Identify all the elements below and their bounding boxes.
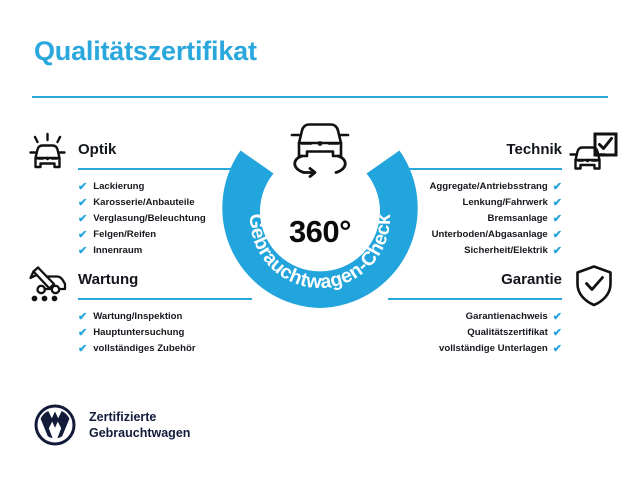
title-divider bbox=[32, 96, 608, 98]
list-item-label: Innenraum bbox=[93, 243, 142, 259]
check-icon: ✔ bbox=[553, 195, 562, 211]
list-item-label: Felgen/Reifen bbox=[93, 227, 156, 243]
check-icon: ✔ bbox=[78, 227, 87, 243]
check-icon: ✔ bbox=[553, 309, 562, 325]
check-icon: ✔ bbox=[78, 195, 87, 211]
list-item-label: Sicherheit/Elektrik bbox=[464, 243, 548, 259]
list-item-label: Verglasung/Beleuchtung bbox=[93, 211, 205, 227]
list-item: ✔ vollständiges Zubehör bbox=[78, 341, 252, 357]
car-checkbox-icon bbox=[568, 130, 618, 183]
vw-wordmark-line1: Zertifizierte bbox=[89, 409, 190, 426]
vw-footer: Zertifizierte Gebrauchtwagen bbox=[34, 404, 190, 446]
list-item-label: Bremsanlage bbox=[488, 211, 548, 227]
shield-check-icon bbox=[570, 262, 618, 315]
check-icon: ✔ bbox=[78, 325, 87, 341]
car-shine-icon bbox=[24, 130, 72, 183]
car-rotate-icon bbox=[280, 112, 360, 188]
check-icon: ✔ bbox=[553, 227, 562, 243]
list-item-label: vollständige Unterlagen bbox=[439, 341, 548, 357]
list-item-label: Qualitätszertifikat bbox=[467, 325, 548, 341]
list-item: ✔ Hauptuntersuchung bbox=[78, 325, 252, 341]
check-icon: ✔ bbox=[78, 309, 87, 325]
vw-wordmark-line2: Gebrauchtwagen bbox=[89, 425, 190, 442]
check-icon: ✔ bbox=[553, 243, 562, 259]
car-pen-service-icon bbox=[24, 262, 72, 315]
check-icon: ✔ bbox=[553, 325, 562, 341]
list-item-label: Aggregate/Antriebsstrang bbox=[429, 179, 547, 195]
check-icon: ✔ bbox=[78, 211, 87, 227]
certificate-sheet: Qualitätszertifikat Optik bbox=[0, 0, 640, 480]
list-item: Qualitätszertifikat ✔ bbox=[388, 325, 562, 341]
section-wartung-list: ✔ Wartung/Inspektion ✔ Hauptuntersuchung… bbox=[78, 309, 252, 357]
check-icon: ✔ bbox=[78, 243, 87, 259]
list-item-label: Karosserie/Anbauteile bbox=[93, 195, 194, 211]
list-item-label: Unterboden/Abgasanlage bbox=[432, 227, 548, 243]
list-item-label: Lenkung/Fahrwerk bbox=[462, 195, 547, 211]
badge-360-gebrauchtwagen-check: Gebrauchtwagen-Check 360° bbox=[222, 110, 418, 310]
check-icon: ✔ bbox=[78, 179, 87, 195]
check-icon: ✔ bbox=[78, 341, 87, 357]
vw-wordmark: Zertifizierte Gebrauchtwagen bbox=[89, 409, 190, 442]
vw-logo bbox=[34, 404, 76, 446]
list-item: vollständige Unterlagen ✔ bbox=[388, 341, 562, 357]
page-title: Qualitätszertifikat bbox=[34, 36, 257, 67]
check-icon: ✔ bbox=[553, 341, 562, 357]
list-item: Garantienachweis ✔ bbox=[388, 309, 562, 325]
check-icon: ✔ bbox=[553, 211, 562, 227]
check-icon: ✔ bbox=[553, 179, 562, 195]
list-item-label: Hauptuntersuchung bbox=[93, 325, 184, 341]
list-item-label: Lackierung bbox=[93, 179, 144, 195]
list-item: ✔ Wartung/Inspektion bbox=[78, 309, 252, 325]
list-item-label: vollständiges Zubehör bbox=[93, 341, 195, 357]
list-item-label: Garantienachweis bbox=[466, 309, 548, 325]
section-garantie-list: Garantienachweis ✔ Qualitätszertifikat ✔… bbox=[388, 309, 562, 357]
badge-360-value: 360° bbox=[222, 214, 418, 250]
list-item-label: Wartung/Inspektion bbox=[93, 309, 182, 325]
